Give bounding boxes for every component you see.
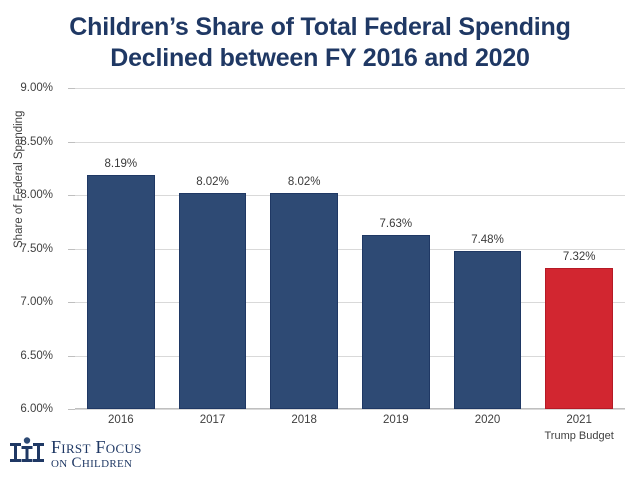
- bar-group: 7.48%: [454, 88, 522, 409]
- bar[interactable]: [87, 175, 155, 409]
- y-tick-label: 6.00%: [0, 403, 53, 415]
- x-tick-label: 2017: [167, 413, 259, 429]
- bar-value-label: 7.48%: [471, 234, 504, 246]
- y-tick-label: 7.50%: [0, 243, 53, 255]
- chart-title-line-2: Declined between FY 2016 and 2020: [0, 43, 640, 74]
- y-tick-mark: [68, 142, 75, 143]
- bar-value-label: 8.02%: [288, 176, 321, 188]
- x-tick-sublabel: Trump Budget: [533, 429, 625, 444]
- x-tick-category: 2021: [566, 414, 592, 426]
- x-tick-category: 2018: [291, 414, 317, 426]
- x-tick-label: 2020: [442, 413, 534, 429]
- three-figures-icon: [10, 437, 44, 472]
- gridline: [75, 88, 625, 89]
- bar[interactable]: [362, 235, 430, 409]
- chart-title: Children’s Share of Total Federal Spendi…: [0, 12, 640, 73]
- y-tick-label: 9.00%: [0, 82, 53, 94]
- y-axis-title: Share of Federal Spending: [13, 111, 25, 248]
- bar-group: 8.19%: [87, 88, 155, 409]
- plot-area: 9.00%8.50%8.00%7.50%7.00%6.50%6.00%8.19%…: [75, 88, 625, 409]
- x-tick-category: 2020: [475, 414, 501, 426]
- bar-value-label: 7.32%: [563, 251, 596, 263]
- bar-value-label: 7.63%: [380, 218, 413, 230]
- y-tick-mark: [68, 409, 75, 410]
- gridline: [75, 409, 625, 410]
- bar[interactable]: [545, 268, 613, 409]
- logo-line-1: First Focus: [51, 438, 142, 456]
- x-tick-label: 2016: [75, 413, 167, 429]
- x-tick-label: 2019: [350, 413, 442, 429]
- bar[interactable]: [179, 193, 247, 409]
- gridline: [75, 142, 625, 143]
- x-tick-category: 2016: [108, 414, 134, 426]
- gridline: [75, 195, 625, 196]
- logo-line-2: on Children: [51, 456, 142, 471]
- bar-value-label: 8.02%: [196, 176, 229, 188]
- y-tick-mark: [68, 88, 75, 89]
- bar-group: 8.02%: [270, 88, 338, 409]
- x-tick-label: 2021Trump Budget: [533, 413, 625, 443]
- bar[interactable]: [270, 193, 338, 409]
- y-tick-label: 7.00%: [0, 296, 53, 308]
- y-tick-mark: [68, 195, 75, 196]
- x-axis-line: [75, 408, 625, 409]
- bar-value-label: 8.19%: [105, 158, 138, 170]
- first-focus-logo: First Focus on Children: [10, 437, 142, 472]
- y-tick-label: 6.50%: [0, 350, 53, 362]
- x-tick-category: 2017: [200, 414, 226, 426]
- y-tick-label: 8.00%: [0, 189, 53, 201]
- chart-title-line-1: Children’s Share of Total Federal Spendi…: [0, 12, 640, 43]
- y-tick-mark: [68, 356, 75, 357]
- y-tick-mark: [68, 249, 75, 250]
- bar-group: 8.02%: [179, 88, 247, 409]
- bar[interactable]: [454, 251, 522, 409]
- y-tick-mark: [68, 302, 75, 303]
- bar-group: 7.63%: [362, 88, 430, 409]
- x-tick-label: 2018: [258, 413, 350, 429]
- gridline: [75, 302, 625, 303]
- x-tick-category: 2019: [383, 414, 409, 426]
- gridline: [75, 249, 625, 250]
- logo-text: First Focus on Children: [51, 438, 142, 471]
- gridline: [75, 356, 625, 357]
- y-tick-label: 8.50%: [0, 136, 53, 148]
- bar-group: 7.32%: [545, 88, 613, 409]
